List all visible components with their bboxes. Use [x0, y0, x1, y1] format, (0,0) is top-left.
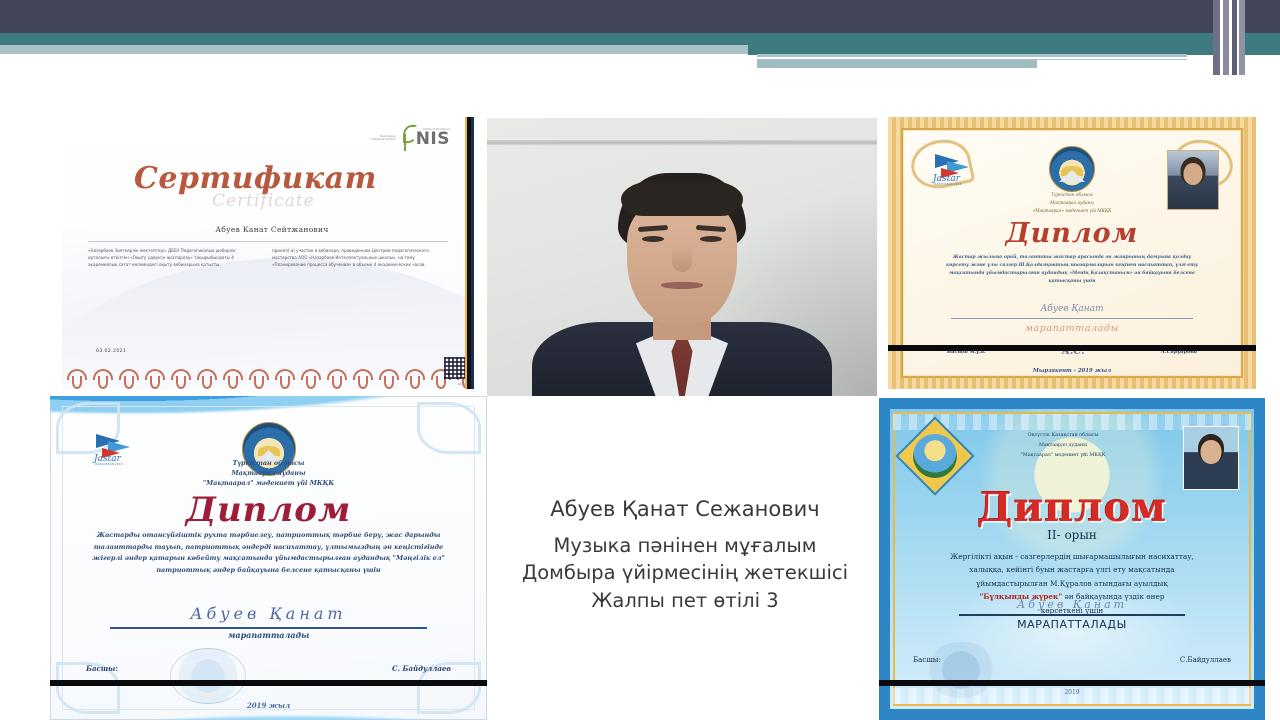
ornament-motif-icon: [246, 367, 268, 389]
sky-emblem-inner: [913, 434, 957, 478]
slide-caption-block: Абуев Қанат Сежанович Музыка пәнінен мұғ…: [492, 494, 878, 615]
ornament-motif-icon: [142, 367, 164, 389]
sky-signer-role: Басшы:: [913, 656, 941, 664]
gold-scan-artifact-bar: [888, 345, 1256, 351]
sky-org-line-2: Мақтаарал ауданы: [983, 442, 1143, 450]
diploma-blue-image[interactable]: Jastar QAZAQSTAN 2019 Түркістан облысы М…: [50, 396, 487, 720]
sky-diploma-title: Диплом: [879, 484, 1265, 531]
gold-diploma-title: Диплом: [903, 218, 1241, 249]
nis-scan-edge: [465, 117, 474, 389]
caption-person-name: Абуев Қанат Сежанович: [492, 494, 878, 526]
blue-official-stamp: [170, 648, 246, 704]
nis-divider: [88, 241, 448, 242]
caption-line-3: Жалпы пет өтілі 3: [492, 587, 878, 615]
blue-handwritten-name: Абуев Қанат: [110, 604, 427, 623]
ornament-motif-icon: [116, 367, 138, 389]
nis-title-ghost: Certificate: [212, 191, 315, 211]
sky-signature-row: Басшы: С.Байдуллаев: [913, 656, 1231, 664]
blue-org-line-2: Мақтаарал ауданы: [144, 468, 394, 478]
blue-signer-name: С. Байдуллаев: [392, 664, 451, 673]
sky-body-line-2: халыққа, кейінгі буын жастарға үлгі ету …: [905, 563, 1239, 576]
gold-awarded-text: марапатталады: [903, 323, 1241, 334]
gold-place-year: Мырзакент - 2019 жыл: [903, 368, 1241, 374]
blue-jastar-logo-sub: QAZAQSTAN 2019: [95, 463, 123, 466]
nis-ornament-border: [62, 359, 474, 389]
person-eye-left: [642, 236, 664, 242]
blue-scan-artifact-bar: [50, 680, 487, 686]
district-emblem-icon: [1049, 146, 1095, 192]
nis-logo-org: Nazarbayev Intellectual Schools: [366, 135, 396, 141]
ornament-motif-icon: [194, 367, 216, 389]
sky-handwritten-name: Абуев Қанат: [959, 598, 1185, 611]
person-mouth: [661, 282, 703, 289]
nis-recipient-name: Абуев Канат Сейтжанович: [122, 225, 422, 234]
sky-signer-name: С.Байдуллаев: [1180, 656, 1231, 664]
ornament-motif-icon: [64, 367, 86, 389]
sky-signature-line: [959, 614, 1185, 616]
gold-portrait-photo: [1167, 150, 1219, 210]
ornament-motif-icon: [402, 367, 424, 389]
sky-portrait-photo: [1183, 426, 1239, 490]
blue-diploma-title: Диплом: [50, 490, 487, 530]
diploma-sky-image[interactable]: Оңтүстік Қазақстан облысы Мақтаарал ауда…: [879, 398, 1265, 720]
gold-inner-frame: Jastar QAZAQSTAN 2019 Түркістан облысы М…: [901, 128, 1243, 378]
caption-line-2: Домбыра үйірмесінің жетекшісі: [492, 559, 878, 587]
nis-date: 03.02.2021: [96, 349, 126, 354]
sky-year-caption: 2019: [879, 689, 1265, 696]
blue-signature-row: Басшы: С. Байдуллаев: [86, 664, 451, 673]
portrait-photo-image[interactable]: [487, 118, 877, 396]
sky-org-line-1: Оңтүстік Қазақстан облысы: [983, 432, 1143, 440]
photo-wall-rail: [487, 140, 877, 145]
person-fringe: [621, 180, 743, 216]
blue-signature-line: [110, 627, 427, 629]
ornament-motif-icon: [90, 367, 112, 389]
jastar-logo: Jastar QAZAQSTAN 2019: [931, 152, 987, 186]
blue-diploma-body: Жастарды отансүйгіштік рухта тәрбиелеу, …: [78, 530, 459, 576]
nis-logo-word: NIS: [416, 131, 450, 148]
sky-awarded-text: МАРАПАТТАЛАДЫ: [879, 618, 1265, 631]
ornament-motif-icon: [272, 367, 294, 389]
ornament-motif-icon: [220, 367, 242, 389]
gold-signature-line: [951, 318, 1193, 319]
gold-handwritten-name: Абуев Қанат: [951, 304, 1193, 314]
gold-diploma-body: Жастар жылына орай, талантты жастар арас…: [943, 254, 1201, 286]
blue-org-line-1: Түркістан облысы: [144, 458, 394, 468]
ornament-motif-icon: [324, 367, 346, 389]
blue-corner-top-right: [417, 402, 481, 454]
ornament-motif-icon: [376, 367, 398, 389]
person-eye-right: [700, 236, 722, 242]
nis-body-kazakh: «Назарбаев Зияткерлік мектептері» ДББҰ П…: [88, 247, 256, 268]
gold-org-line-3: «Мақтаарал» мәдениет үйі МКҚК: [977, 208, 1167, 215]
jastar-logo-sub: QAZAQSTAN 2019: [934, 183, 962, 186]
person-nose: [672, 246, 692, 272]
sky-org-line-3: "Мақтаарал" мәдениет үйі МКҚК: [983, 452, 1143, 460]
gold-org-line-2: Мақтаарал ауданы: [977, 200, 1167, 207]
ornament-motif-icon: [298, 367, 320, 389]
caption-line-1: Музыка пәнінен мұғалым: [492, 532, 878, 560]
diploma-gold-image[interactable]: Jastar QAZAQSTAN 2019 Түркістан облысы М…: [888, 117, 1256, 389]
ornament-motif-icon: [350, 367, 372, 389]
nis-logo: Nazarbayev Intellectual Schools Center o…: [366, 125, 450, 151]
blue-awarded-text: марапатталады: [50, 630, 487, 640]
sky-place-rank: II- орын: [879, 528, 1265, 542]
blue-jastar-logo: Jastar QAZAQSTAN 2019: [92, 432, 148, 466]
leaf-icon: [398, 125, 414, 151]
sky-body-line-1: Жергілікті ақын - сазгерлердің шығармашы…: [905, 550, 1239, 563]
blue-signer-role: Басшы:: [86, 664, 118, 673]
blue-year-caption: 2019 жыл: [50, 702, 487, 710]
blue-org-line-3: "Мақтаарал" мәдениет үйі МКҚК: [144, 478, 394, 488]
ornament-motif-icon: [168, 367, 190, 389]
gold-org-line-1: Түркістан облысы: [977, 192, 1167, 199]
sky-scan-artifact-bar: [879, 680, 1265, 686]
sky-body-line-3: ұйымдастырылған М.Құралов атындағы ауылд…: [905, 577, 1239, 590]
certificate-nis-image[interactable]: Nazarbayev Intellectual Schools Center o…: [62, 117, 474, 389]
qr-code-icon: [444, 357, 466, 379]
